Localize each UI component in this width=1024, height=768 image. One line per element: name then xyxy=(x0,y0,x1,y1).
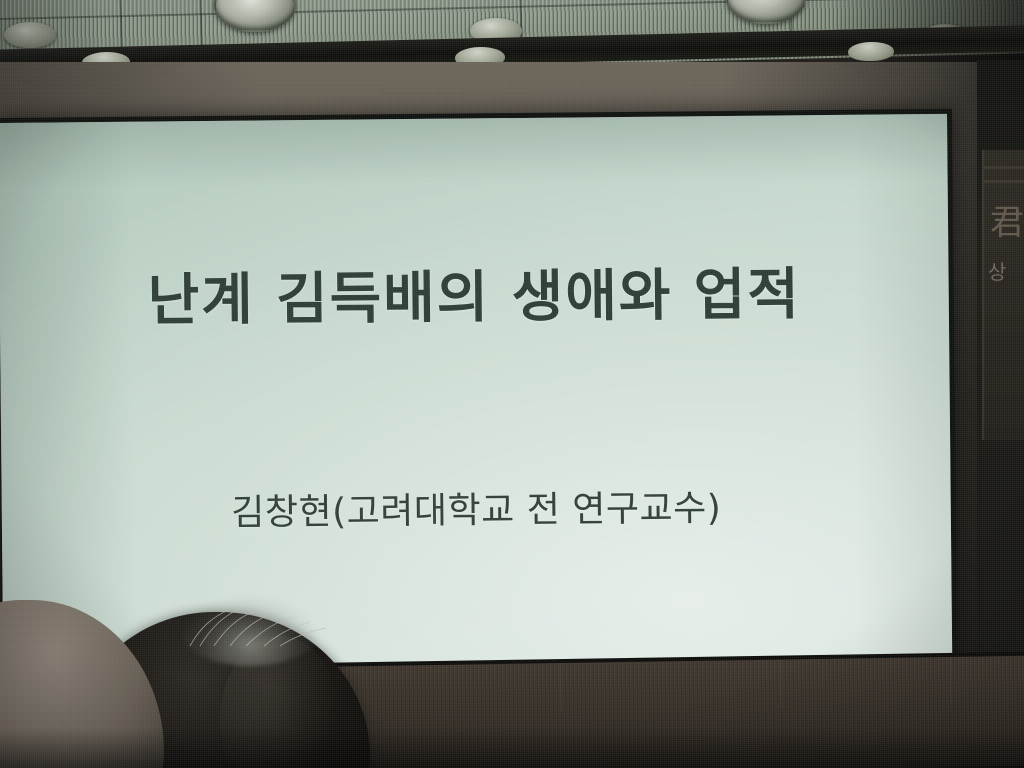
wainscot-seam xyxy=(950,657,952,705)
sprinkler-head-icon xyxy=(4,22,56,48)
wainscot-seam xyxy=(780,660,782,708)
banner-hangul-text: 상 xyxy=(988,262,1006,282)
projection-screen-frame: 난계 김득배의 생애와 업적 김창현(고려대학교 전 연구교수) xyxy=(0,109,957,678)
slide-subtitle: 김창현(고려대학교 전 연구교수) xyxy=(2,477,951,538)
projection-screen: 난계 김득배의 생애와 업적 김창현(고려대학교 전 연구교수) xyxy=(0,114,952,673)
banner-rule xyxy=(984,180,1024,183)
rail-bump xyxy=(848,41,894,61)
banner-rule xyxy=(984,166,1024,169)
slide-title: 난계 김득배의 생애와 업적 xyxy=(0,248,949,338)
wainscot-seam xyxy=(560,663,562,711)
wall-banner-partial: 君 상 xyxy=(982,150,1024,440)
banner-hanja-text: 君 xyxy=(990,206,1024,240)
slide-content: 난계 김득배의 생애와 업적 김창현(고려대학교 전 연구교수) xyxy=(0,114,952,673)
presentation-photo-scene: 君 상 난계 김득배의 생애와 업적 김창현(고려대학교 전 연구교수) xyxy=(0,0,1024,768)
